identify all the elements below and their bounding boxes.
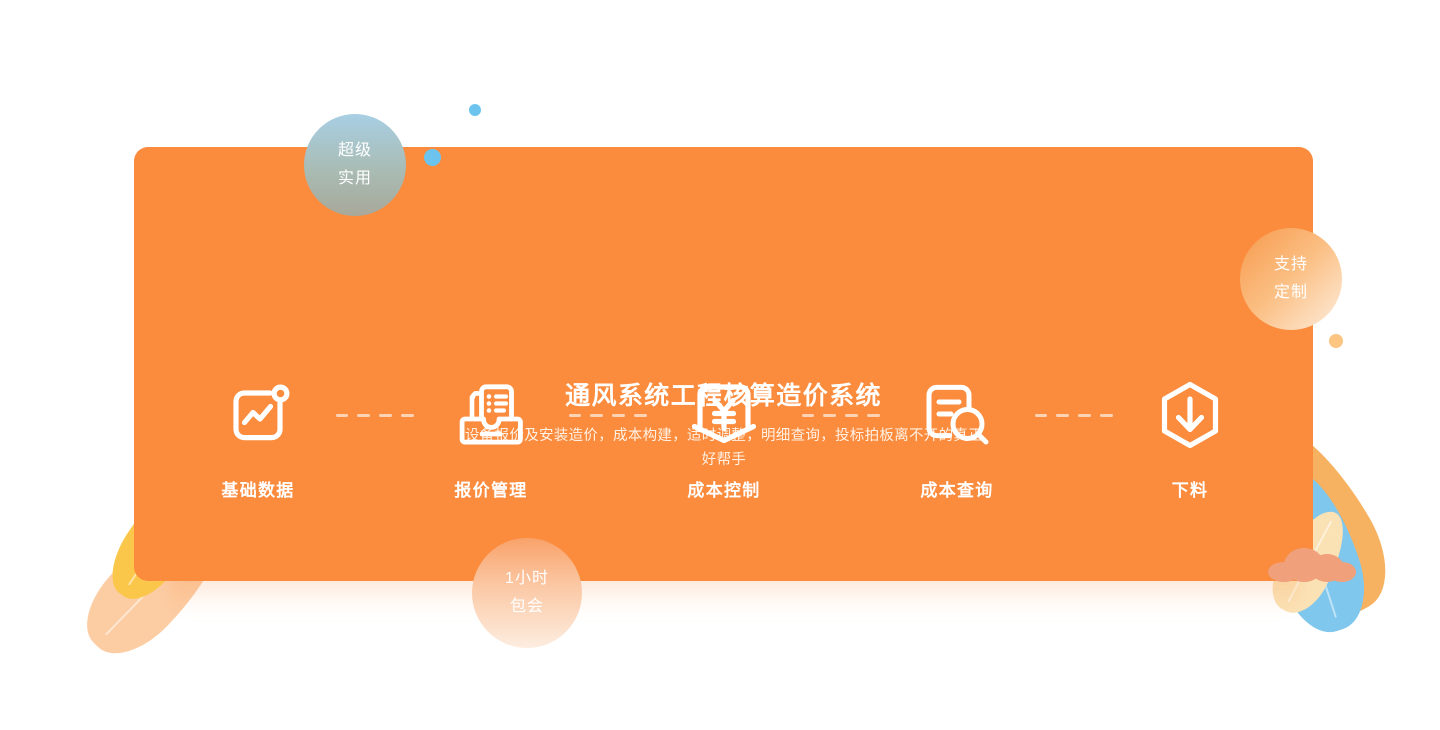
dot-blue-small-icon <box>469 104 481 116</box>
connector-dashes <box>336 372 414 458</box>
feature-label: 报价管理 <box>454 476 527 501</box>
feature-item-quote-management[interactable]: 报价管理 <box>427 372 555 501</box>
badge-line-2: 实用 <box>338 165 372 193</box>
feature-list: 基础数据 <box>194 372 1254 501</box>
badge-one-hour-mastery[interactable]: 1小时 包会 <box>472 538 582 648</box>
feature-item-basic-data[interactable]: 基础数据 <box>194 372 322 501</box>
badge-line-1: 超级 <box>338 137 372 165</box>
connector-dashes <box>569 372 647 458</box>
connector-dashes <box>1035 372 1113 458</box>
connector-dashes <box>802 372 880 458</box>
feature-label: 基础数据 <box>221 476 294 501</box>
chart-square-icon <box>218 372 298 458</box>
yuan-shield-icon <box>684 372 764 458</box>
badge-super-practical[interactable]: 超级 实用 <box>304 114 406 216</box>
document-search-icon <box>917 372 997 458</box>
dot-orange-small-icon <box>1329 334 1343 348</box>
promo-banner: 通风系统工程核算造价系统 设备报价及安装造价，成本构建，适时调整，明细查询，投标… <box>0 0 1440 730</box>
badge-line-1: 支持 <box>1274 251 1308 279</box>
feature-label: 成本控制 <box>687 476 760 501</box>
badge-line-2: 定制 <box>1274 279 1308 307</box>
cloud-base-decoration <box>1268 546 1356 580</box>
feature-item-cutting[interactable]: 下料 <box>1126 372 1254 501</box>
main-card: 通风系统工程核算造价系统 设备报价及安装造价，成本构建，适时调整，明细查询，投标… <box>134 147 1313 581</box>
badge-line-2: 包会 <box>510 593 544 621</box>
feature-label: 下料 <box>1172 476 1209 501</box>
badge-line-1: 1小时 <box>505 565 549 593</box>
feature-label: 成本查询 <box>920 476 993 501</box>
badge-supports-customization[interactable]: 支持 定制 <box>1240 228 1342 330</box>
feature-item-cost-query[interactable]: 成本查询 <box>893 372 1021 501</box>
dot-blue-large-icon <box>424 149 441 166</box>
hexagon-download-icon <box>1150 372 1230 458</box>
inbox-documents-icon <box>451 372 531 458</box>
feature-item-cost-control[interactable]: 成本控制 <box>660 372 788 501</box>
